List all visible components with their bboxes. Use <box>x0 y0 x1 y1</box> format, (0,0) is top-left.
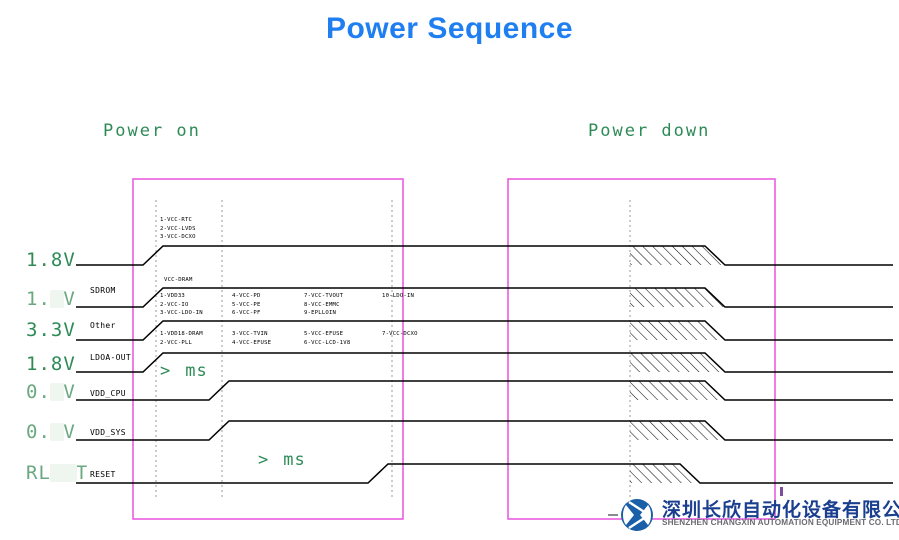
rail-item: 2-VCC-PLL <box>160 339 232 348</box>
rail-item: 8-VCC-EMMC <box>304 301 382 310</box>
signal-label-reset: RESET <box>90 470 116 479</box>
rail-item: 3-VCC-TVIN <box>232 330 304 339</box>
voltage-label-row-2: 1.5V <box>26 288 76 310</box>
voltage-label-row-6: 0.9V <box>26 421 76 443</box>
voltage-label-row-3: 3.3V <box>26 319 76 341</box>
waveform-row-5 <box>76 381 893 400</box>
rail-heading-vcc-dram: VCC-DRAM <box>164 277 193 283</box>
rail-group-rtc: 1-VCC-RTC 2-VCC-LVDS 3-VCC-DCXO <box>160 216 226 242</box>
waveform-canvas <box>0 0 899 540</box>
rail-group-ldo: 1-VDD18-DRAM 2-VCC-PLL 3-VCC-TVIN 4-VCC-… <box>160 330 418 347</box>
logo-mark-icon <box>620 498 654 532</box>
voltage-label-row-1: 1.8V <box>26 249 76 271</box>
waveform-row-7 <box>76 464 893 483</box>
rail-item: 3-VCC-LDO-IN <box>160 309 232 318</box>
rail-item: 10-LDO-IN <box>382 292 414 301</box>
company-logo: 深圳长欣自动化设备有限公司 SHENZHEN CHANGXIN AUTOMATI… <box>620 496 892 536</box>
rail-item: 1-VDD18-DRAM <box>160 330 232 339</box>
voltage-label-row-7: RLSET <box>26 462 88 484</box>
rail-item: 7-VCC-DCXO <box>382 330 418 339</box>
rail-item: 4-VCC-PD <box>232 292 304 301</box>
timing-annotation-ldo-to-cpu: >ms <box>160 361 208 381</box>
power-sequence-diagram: Power Sequence Power on Power down <box>0 0 899 540</box>
guide-lines <box>156 200 630 500</box>
rail-item: 6-VCC-PF <box>232 309 304 318</box>
signal-label-vdd-cpu: VDD_CPU <box>90 389 126 398</box>
signal-label-other: Other <box>90 321 116 330</box>
rail-item: 5-VCC-PE <box>232 301 304 310</box>
logo-company-name-en: SHENZHEN CHANGXIN AUTOMATION EQUIPMENT C… <box>662 518 899 527</box>
signal-label-vdd-sys: VDD_SYS <box>90 428 126 437</box>
rail-group-dram-heading: VCC-DRAM <box>164 277 193 283</box>
logo-divider <box>608 514 618 516</box>
rail-item: 7-VCC-TVOUT <box>304 292 382 301</box>
rail-item: 5-VCC-EFUSE <box>304 330 382 339</box>
rail-item: 2-VCC-LVDS <box>160 225 226 234</box>
signal-label-ldoa-out: LDOA-OUT <box>90 353 131 362</box>
rail-item: 2-VCC-IO <box>160 301 232 310</box>
waveform-row-1 <box>76 246 893 265</box>
rail-item: 4-VCC-EFUSE <box>232 339 304 348</box>
rail-item: 6-VCC-LCD-1V8 <box>304 339 382 348</box>
rail-item: 1-VDD33 <box>160 292 232 301</box>
rail-item: 1-VCC-RTC <box>160 216 226 225</box>
rail-group-dram: 1-VDD33 2-VCC-IO 3-VCC-LDO-IN 4-VCC-PD 5… <box>160 292 414 318</box>
signal-label-sdrom: SDROM <box>90 286 116 295</box>
rail-item: 3-VCC-DCXO <box>160 233 226 242</box>
waveform-row-6 <box>76 421 893 440</box>
timing-annotation-sys-to-reset: >ms <box>258 450 306 470</box>
voltage-label-row-4: 1.8V <box>26 353 76 375</box>
rail-item: 9-EPLLOIN <box>304 309 382 318</box>
voltage-label-row-5: 0.9V <box>26 381 76 403</box>
